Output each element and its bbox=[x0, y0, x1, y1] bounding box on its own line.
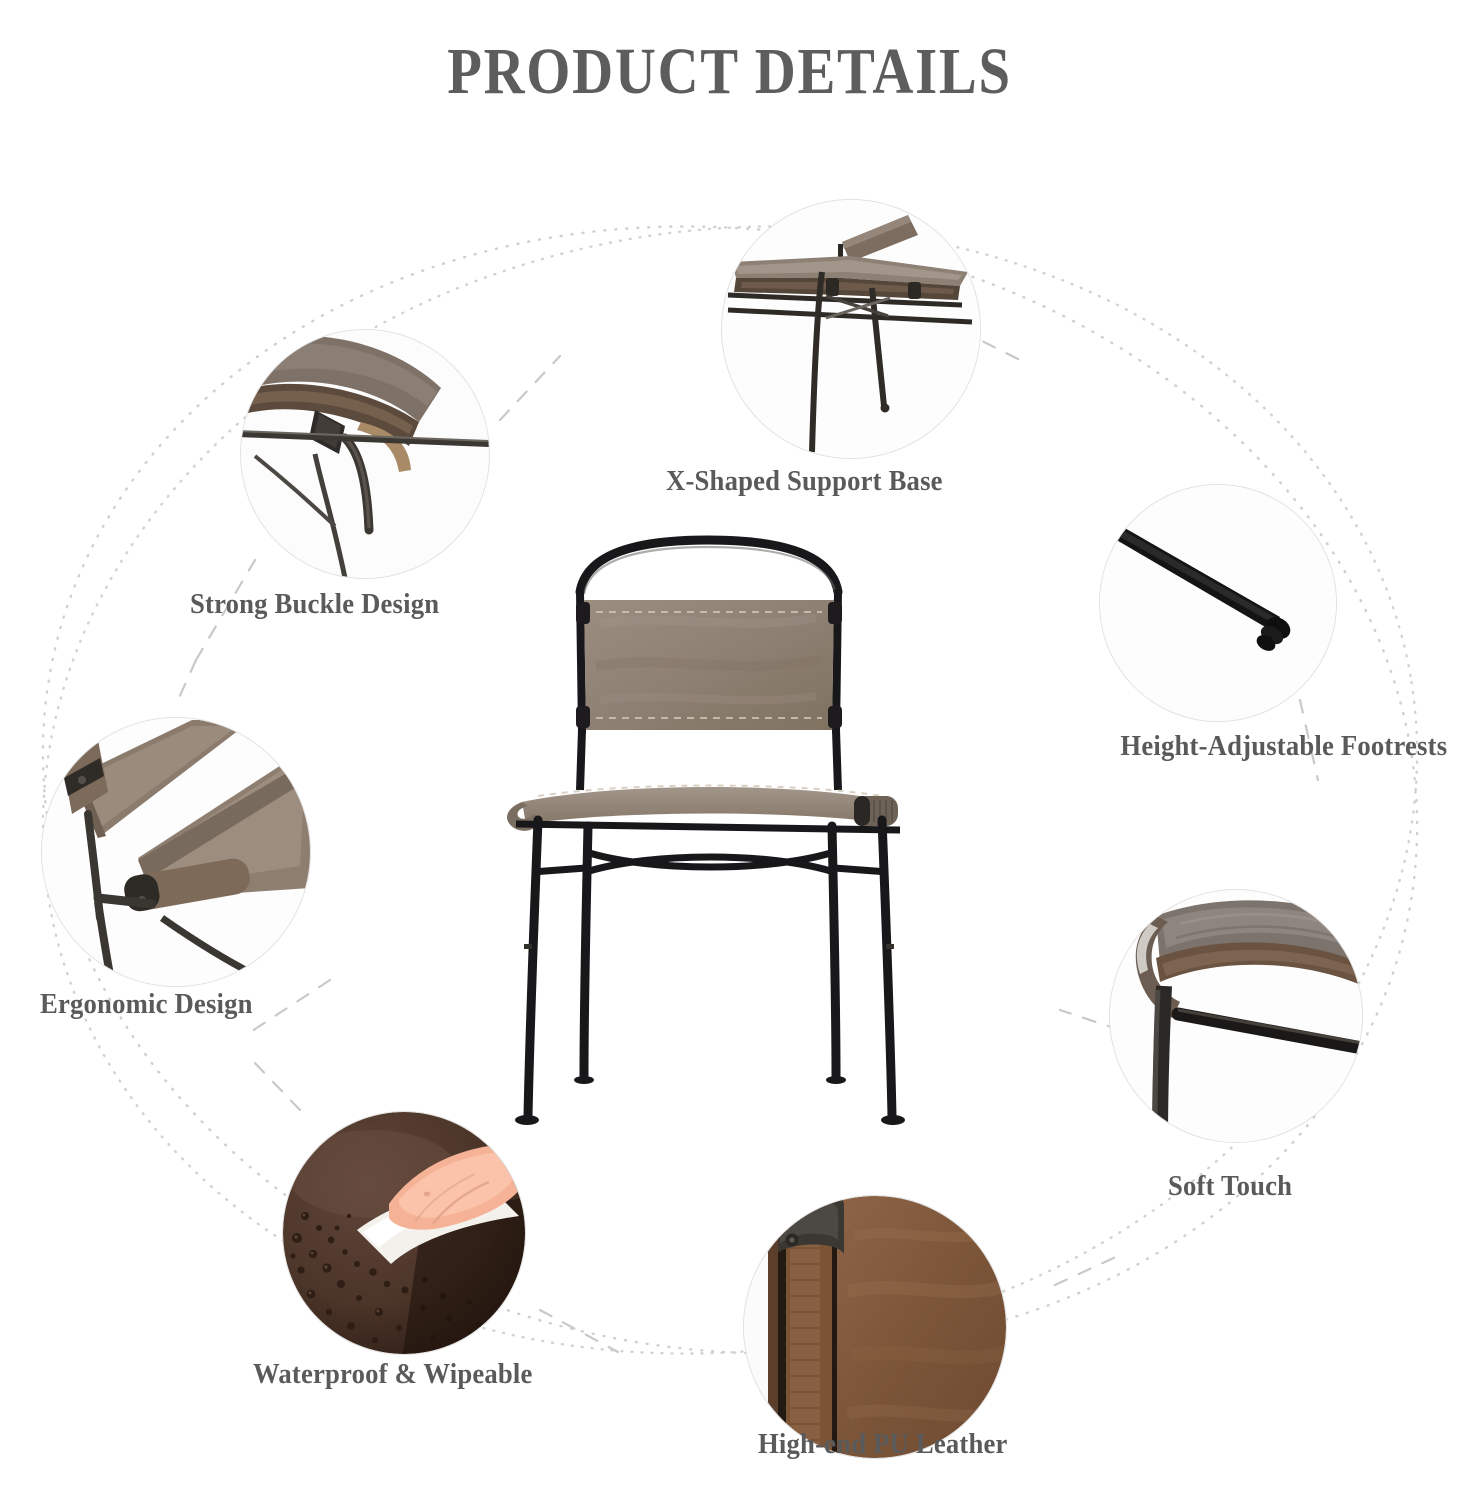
label-soft-touch: Soft Touch bbox=[1168, 1170, 1292, 1203]
label-x-shaped-support-base: X-Shaped Support Base bbox=[666, 465, 943, 498]
inset-ergonomic-design bbox=[42, 718, 310, 986]
inset-x-shaped-support-base bbox=[722, 200, 980, 458]
label-waterproof-wipeable: Waterproof & Wipeable bbox=[253, 1358, 533, 1391]
label-height-adjustable-footrests: Height-Adjustable Footrests bbox=[1120, 730, 1447, 763]
label-high-end-pu-leather: High-end PU Leather bbox=[758, 1428, 1008, 1461]
infographic-canvas: PRODUCT DETAILS .dot { fill:none; stroke… bbox=[0, 0, 1459, 1500]
inset-waterproof-wipeable bbox=[283, 1112, 525, 1354]
inset-height-adjustable-footrests bbox=[1100, 485, 1336, 721]
inset-high-end-pu-leather bbox=[744, 1196, 1006, 1458]
label-strong-buckle-design: Strong Buckle Design bbox=[190, 588, 439, 621]
product-chair-image bbox=[480, 520, 940, 1140]
page-title: PRODUCT DETAILS bbox=[102, 34, 1357, 110]
inset-soft-touch bbox=[1110, 890, 1362, 1142]
inset-strong-buckle-design bbox=[241, 330, 489, 578]
label-ergonomic-design: Ergonomic Design bbox=[40, 988, 253, 1021]
